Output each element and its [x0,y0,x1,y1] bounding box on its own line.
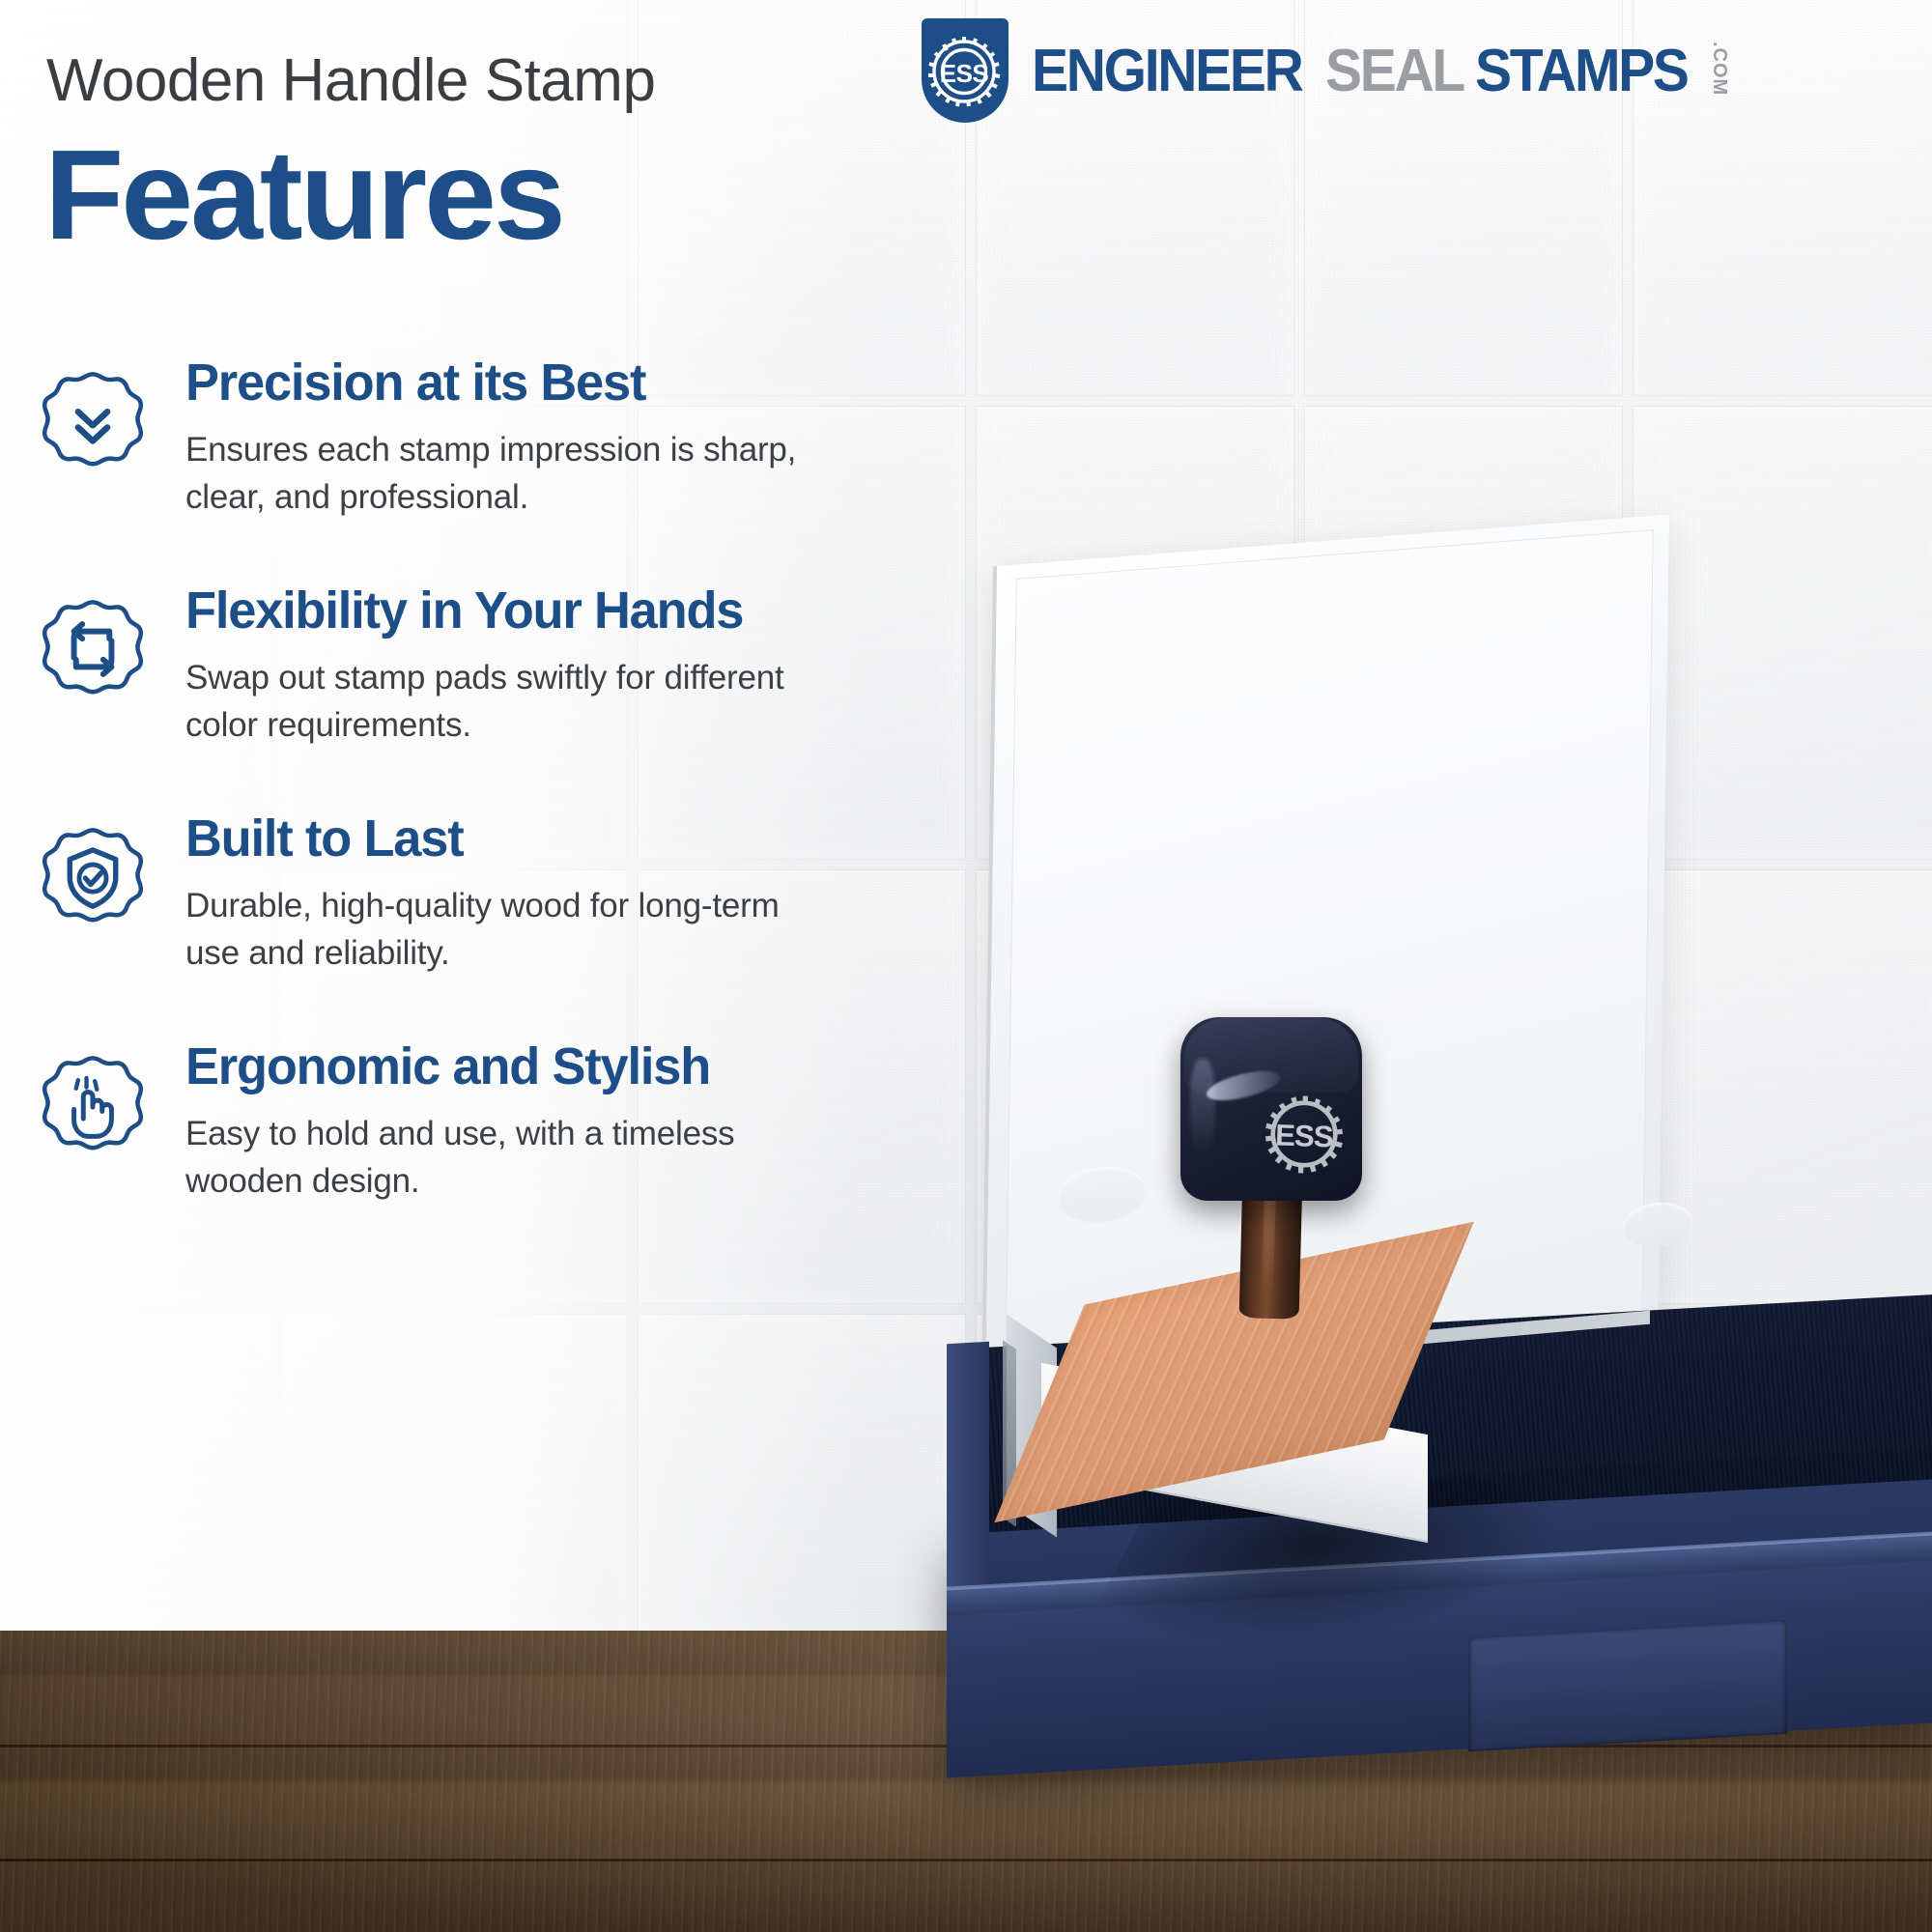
brand-tld: .COM [1710,42,1729,96]
feature-title: Precision at its Best [185,355,862,411]
chevron-double-down-badge-icon [41,369,145,473]
tap-hand-badge-icon [41,1053,145,1157]
features-list: Precision at its Best Ensures each stamp… [33,355,883,1267]
feature-description: Durable, high-quality wood for long-term… [185,882,823,978]
feature-description: Ensures each stamp impression is sharp, … [185,426,823,522]
feature-item: Ergonomic and Stylish Easy to hold and u… [33,1039,883,1267]
brand-word-seal: SEAL [1325,43,1463,100]
logo-mark-text: ESS [940,59,989,88]
page-kicker: Wooden Handle Stamp [46,46,655,115]
refresh-loop-badge-icon [41,597,145,701]
feature-item: Built to Last Durable, high-quality wood… [33,811,883,1039]
shield-check-badge-icon [41,825,145,929]
feature-title: Ergonomic and Stylish [185,1039,862,1094]
feature-description: Swap out stamp pads swiftly for differen… [185,654,823,750]
page-title: Features [44,131,563,259]
brand-word-engineer: ENGINEER [1032,43,1302,100]
brand-word-stamps: STAMPS [1475,43,1688,100]
brand-logo[interactable]: ESS ENGINEER SEAL STAMPS .COM [908,17,1913,124]
feature-item: Flexibility in Your Hands Swap out stamp… [33,583,883,811]
content-layer: Wooden Handle Stamp Features [0,0,1932,1932]
feature-description: Easy to hold and use, with a timeless wo… [185,1110,823,1206]
ess-gear-icon: ESS [914,30,1014,113]
brand-logo-mark: ESS [908,18,1022,123]
brand-wordmark: ENGINEER SEAL STAMPS .COM [1032,42,1729,99]
feature-title: Flexibility in Your Hands [185,583,862,639]
feature-item: Precision at its Best Ensures each stamp… [33,355,883,583]
feature-title: Built to Last [185,811,862,867]
